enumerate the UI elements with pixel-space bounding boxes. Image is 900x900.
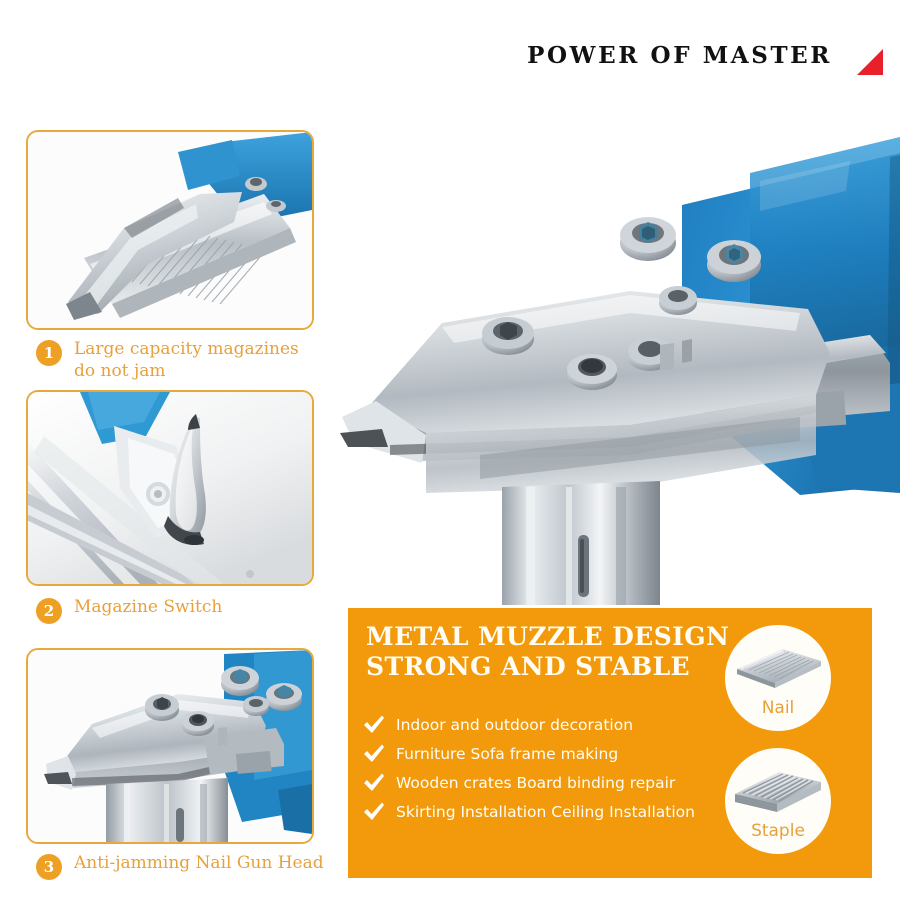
feature-photo-card-1 (26, 130, 314, 330)
promo-panel: METAL MUZZLE DESIGN STRONG AND STABLE In… (348, 608, 872, 878)
promo-bullet-item: Wooden crates Board binding repair (362, 768, 740, 797)
feature-caption-text-3: Anti-jamming Nail Gun Head (74, 852, 324, 874)
check-icon (362, 714, 386, 736)
promo-bullet-item: Skirting Installation Ceiling Installati… (362, 797, 740, 826)
product-badge-staple: Staple (725, 748, 831, 854)
product-infographic-page: POWER OF MASTER (0, 0, 900, 900)
promo-bullet-text: Wooden crates Board binding repair (396, 774, 675, 792)
promo-bullet-text: Furniture Sofa frame making (396, 745, 618, 763)
check-icon (362, 772, 386, 794)
feature-number-badge-1: 1 (36, 340, 62, 366)
staple-strip-icon (725, 758, 831, 820)
product-label-staple: Staple (725, 821, 831, 841)
hero-product-photo (330, 95, 900, 605)
promo-bullet-item: Indoor and outdoor decoration (362, 710, 740, 739)
header-bar: POWER OF MASTER (0, 42, 900, 86)
feature-caption-text-1: Large capacity magazines do not jam (74, 338, 299, 383)
feature-number-badge-2: 2 (36, 598, 62, 624)
feature-caption-2: 2 Magazine Switch (36, 596, 222, 624)
promo-bullet-text: Skirting Installation Ceiling Installati… (396, 803, 695, 821)
promo-bullet-text: Indoor and outdoor decoration (396, 716, 633, 734)
product-label-nail: Nail (725, 698, 831, 718)
red-triangle-icon (857, 49, 883, 75)
nail-strip-icon (725, 635, 831, 697)
feature-photo-card-3 (26, 648, 314, 844)
feature-number-badge-3: 3 (36, 854, 62, 880)
brand-title: POWER OF MASTER (527, 42, 832, 69)
check-icon (362, 743, 386, 765)
promo-bullet-list: Indoor and outdoor decoration Furniture … (362, 710, 740, 826)
promo-bullet-item: Furniture Sofa frame making (362, 739, 740, 768)
promo-headline: METAL MUZZLE DESIGN STRONG AND STABLE (366, 622, 736, 681)
feature-caption-text-2: Magazine Switch (74, 596, 222, 618)
product-badge-nail: Nail (725, 625, 831, 731)
feature-photo-card-2 (26, 390, 314, 586)
check-icon (362, 801, 386, 823)
feature-caption-3: 3 Anti-jamming Nail Gun Head (36, 852, 324, 880)
feature-caption-1: 1 Large capacity magazines do not jam (36, 338, 299, 383)
